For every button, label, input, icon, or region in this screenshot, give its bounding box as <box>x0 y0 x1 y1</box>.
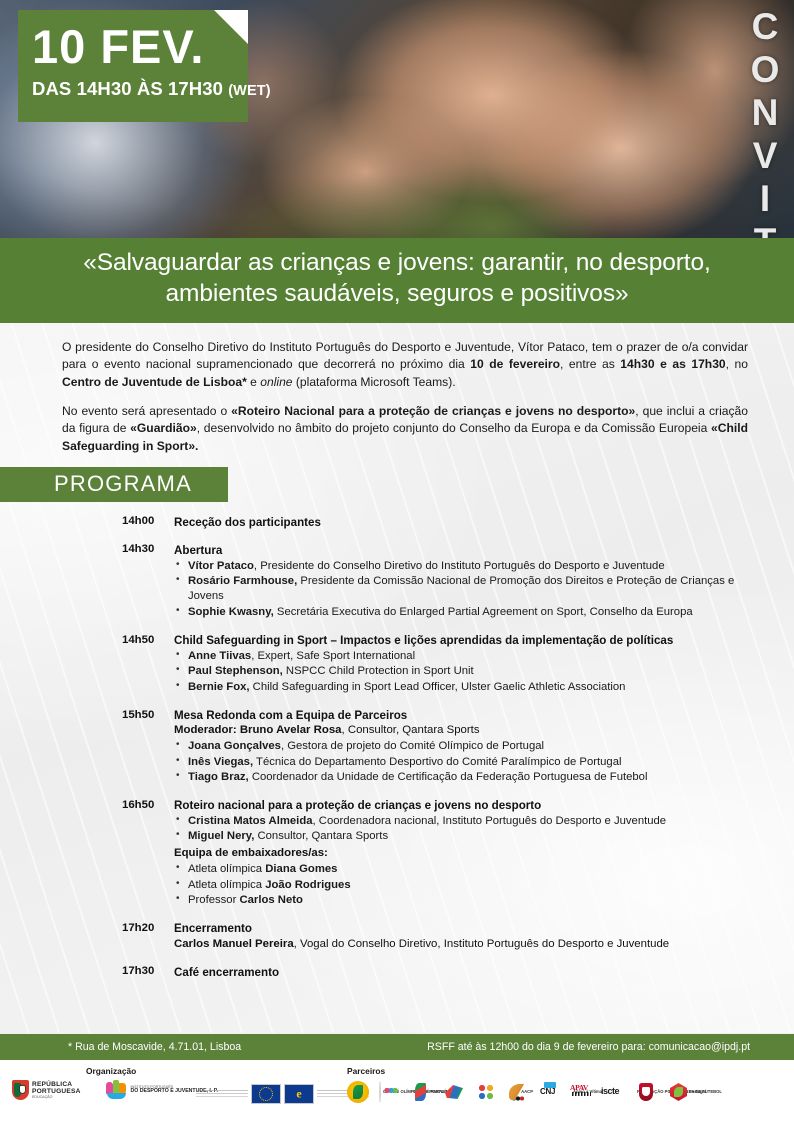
speaker-role: , Presidente do Conselho Diretivo do Ins… <box>254 560 665 572</box>
ambassador-role: Professor <box>188 894 239 906</box>
intro-text-block: O presidente do Conselho Diretivo do Ins… <box>0 323 794 456</box>
speaker-list: Anne Tiivas, Expert, Safe Sport Internat… <box>174 649 754 695</box>
speaker-role: NSPCC Child Protection in Sport Unit <box>283 665 474 677</box>
schedule-slot: 14h30AberturaVítor Pataco, Presidente do… <box>122 543 754 620</box>
iscte-logo <box>603 1080 629 1104</box>
programme-schedule: 14h00Receção dos participantes14h30Abert… <box>0 502 794 981</box>
slot-time: 14h50 <box>122 633 174 695</box>
schedule-slot: 14h00Receção dos participantes <box>122 515 754 530</box>
republica-line3: EDUCAÇÃO <box>32 1095 81 1099</box>
intro-p1-part-g: e <box>247 375 260 389</box>
federacao-portuguesa-futebol-logo: FEDERAÇÃO PORTUGUESA DE FUTEBOL <box>635 1080 661 1104</box>
intro-p2-roteiro: «Roteiro Nacional para a proteção de cri… <box>231 404 635 418</box>
intro-paragraph-1: O presidente do Conselho Diretivo do Ins… <box>62 339 748 392</box>
speaker-role: , Expert, Safe Sport International <box>251 650 415 662</box>
event-date: 10 FEV. <box>32 18 236 75</box>
speaker-name: Inês Viegas, <box>188 756 253 768</box>
slot-title: Child Safeguarding in Sport – Impactos e… <box>174 633 754 648</box>
speaker-item: Vítor Pataco, Presidente do Conselho Dir… <box>174 559 754 574</box>
rsvp-info: RSFF até às 12h00 do dia 9 de fevereiro … <box>427 1041 750 1053</box>
comite-paralimpico-portugal-logo: COMITÉ PARALÍMPICO <box>411 1080 437 1104</box>
slot-title: Receção dos participantes <box>174 515 754 530</box>
federacao-portuguesa-desporto-logo-icon <box>443 1081 465 1103</box>
invitation-poster: 10 FEV. DAS 14H30 ÀS 17H30 (WET) CONVITE… <box>0 0 794 1123</box>
venue-address: * Rua de Moscavide, 4.71.01, Lisboa <box>68 1041 241 1053</box>
speaker-item: Cristina Matos Almeida, Coordenadora nac… <box>174 814 754 829</box>
event-title-banner: «Salvaguardar as crianças e jovens: gara… <box>0 238 794 323</box>
cnj-logo-icon <box>539 1081 561 1103</box>
slot-time: 14h00 <box>122 515 174 530</box>
cnj-logo <box>539 1080 565 1104</box>
intro-p1-part-c: , entre as <box>560 357 620 371</box>
intro-p2-part-a: No evento será apresentado o <box>62 404 231 418</box>
convite-vertical-label: CONVITE <box>736 0 794 238</box>
speaker-item: Anne Tiivas, Expert, Safe Sport Internat… <box>174 649 754 664</box>
intro-p1-online: online <box>260 375 292 389</box>
speaker-name: Anne Tiivas <box>188 650 251 662</box>
speaker-item: Inês Viegas, Técnica do Departamento Des… <box>174 755 754 770</box>
ambassador-name: João Rodrigues <box>265 879 350 891</box>
ambassador-item: Professor Carlos Neto <box>174 893 754 908</box>
ambassador-name: Carlos Neto <box>239 894 302 906</box>
republica-line1: REPÚBLICA <box>32 1081 81 1088</box>
slot-time: 15h50 <box>122 708 174 785</box>
slot-body: Roteiro nacional para a proteção de cria… <box>174 798 754 908</box>
slot-time: 17h30 <box>122 965 174 980</box>
portugal-shield-icon <box>12 1080 29 1100</box>
republica-portuguesa-logo: REPÚBLICA PORTUGUESA EDUCAÇÃO <box>12 1080 81 1100</box>
ambassador-item: Atleta olímpica João Rodrigues <box>174 878 754 893</box>
speaker-name: Cristina Matos Almeida <box>188 815 313 827</box>
schedule-slot: 17h30Café encerramento <box>122 965 754 980</box>
ginastica-portugal-logo: Ginástica Portugal <box>667 1080 693 1104</box>
speaker-role: Coordenador da Unidade de Certificação d… <box>249 771 648 783</box>
intro-p2-part-e: , desenvolvido no âmbito do projeto conj… <box>197 421 711 435</box>
content-area: O presidente do Conselho Diretivo do Ins… <box>0 323 794 1033</box>
parceiros-label: Parceiros <box>347 1066 385 1076</box>
event-timezone: (WET) <box>228 83 270 99</box>
speaker-role: Child Safeguarding in Sport Lead Officer… <box>250 681 626 693</box>
corner-notch-decoration <box>214 10 248 44</box>
organizer-logos: REPÚBLICA PORTUGUESA EDUCAÇÃO INSTITUTO … <box>12 1080 218 1100</box>
speaker-role: , Gestora de projeto do Comité Olímpico … <box>281 740 544 752</box>
schedule-slot: 17h20EncerramentoCarlos Manuel Pereira, … <box>122 921 754 952</box>
slot-time: 14h30 <box>122 543 174 620</box>
intro-p1-part-e: , no <box>726 357 748 371</box>
speaker-name: Miguel Nery, <box>188 830 254 842</box>
schedule-slot: 14h50Child Safeguarding in Sport – Impac… <box>122 633 754 695</box>
eu-text-lines-placeholder <box>196 1087 248 1101</box>
logo-footer: Organização Parceiros REPÚBLICA PORTUGUE… <box>0 1060 794 1123</box>
schedule-slot: 15h50Mesa Redonda com a Equipa de Parcei… <box>122 708 754 785</box>
ambassadors-group-label: Equipa de embaixadores/as: <box>174 846 754 862</box>
aacp-logo: AACP <box>507 1080 533 1104</box>
republica-portuguesa-text: REPÚBLICA PORTUGUESA EDUCAÇÃO <box>32 1081 81 1100</box>
ambassadors-list: Atleta olímpica Diana GomesAtleta olímpi… <box>174 862 754 908</box>
slot-subtitle-name: Carlos Manuel Pereira <box>174 938 294 950</box>
speaker-name: Paul Stephenson, <box>188 665 283 677</box>
council-of-europe-flag-icon: e <box>284 1084 314 1104</box>
speaker-item: Paul Stephenson, NSPCC Child Protection … <box>174 664 754 679</box>
slot-title: Roteiro nacional para a proteção de cria… <box>174 798 754 813</box>
slot-body: Receção dos participantes <box>174 515 754 530</box>
confederacao-desporto-portugal-logo <box>475 1080 501 1104</box>
event-date-box: 10 FEV. DAS 14H30 ÀS 17H30 (WET) <box>18 10 248 122</box>
ambassador-role: Atleta olímpica <box>188 879 265 891</box>
speaker-name: Rosário Farmhouse, <box>188 575 297 587</box>
speaker-name: Vítor Pataco <box>188 560 254 572</box>
speaker-role: Técnica do Departamento Desportivo do Co… <box>253 756 621 768</box>
slot-title: Encerramento <box>174 921 754 936</box>
apav-logo: Apoio à Vítima <box>571 1080 597 1104</box>
speaker-item: Joana Gonçalves, Gestora de projeto do C… <box>174 739 754 754</box>
ipdj-badge-logo-icon <box>347 1081 369 1103</box>
speaker-item: Rosário Farmhouse, Presidente da Comissã… <box>174 574 754 605</box>
confederacao-desporto-portugal-logo-icon <box>475 1081 497 1103</box>
slot-subtitle-name: Moderador: Bruno Avelar Rosa <box>174 724 342 736</box>
european-union-flag-icon <box>251 1084 281 1104</box>
slot-subtitle: Moderador: Bruno Avelar Rosa, Consultor,… <box>174 723 754 738</box>
speaker-name: Bernie Fox, <box>188 681 250 693</box>
intro-p1-part-i: (plataforma Microsoft Teams). <box>293 375 456 389</box>
programa-heading: PROGRAMA <box>54 471 192 496</box>
speaker-item: Miguel Nery, Consultor, Qantara Sports <box>174 829 754 844</box>
speaker-list: Cristina Matos Almeida, Coordenadora nac… <box>174 814 754 845</box>
convite-text: CONVITE <box>749 6 780 238</box>
slot-body: AberturaVítor Pataco, Presidente do Cons… <box>174 543 754 620</box>
speaker-list: Joana Gonçalves, Gestora de projeto do C… <box>174 739 754 785</box>
speaker-name: Tiago Braz, <box>188 771 249 783</box>
intro-p2-guardiao: «Guardião» <box>130 421 197 435</box>
speaker-name: Joana Gonçalves <box>188 740 281 752</box>
slot-subtitle: Carlos Manuel Pereira, Vogal do Conselho… <box>174 937 754 952</box>
speaker-name: Sophie Kwasny, <box>188 606 274 618</box>
intro-p1-venue: Centro de Juventude de Lisboa* <box>62 375 247 389</box>
slot-subtitle-role: , Vogal do Conselho Diretivo, Instituto … <box>294 938 670 950</box>
intro-paragraph-2: No evento será apresentado o «Roteiro Na… <box>62 403 748 456</box>
speaker-item: Tiago Braz, Coordenador da Unidade de Ce… <box>174 770 754 785</box>
partner-logos: COMITÉ OLÍMPICO DE PORTUGALCOMITÉ PARALÍ… <box>347 1080 693 1104</box>
speaker-role: Secretária Executiva do Enlarged Partial… <box>274 606 693 618</box>
speaker-item: Sophie Kwasny, Secretária Executiva do E… <box>174 605 754 620</box>
ambassador-role: Atleta olímpica <box>188 863 265 875</box>
ipdj-mark-icon <box>106 1080 128 1100</box>
hero-photo-banner: 10 FEV. DAS 14H30 ÀS 17H30 (WET) CONVITE <box>0 0 794 238</box>
event-time-text: DAS 14H30 ÀS 17H30 <box>32 78 228 99</box>
ipdj-badge-logo <box>347 1080 373 1104</box>
speaker-list: Vítor Pataco, Presidente do Conselho Dir… <box>174 559 754 620</box>
speaker-item: Bernie Fox, Child Safeguarding in Sport … <box>174 680 754 695</box>
slot-title: Abertura <box>174 543 754 558</box>
slot-title: Café encerramento <box>174 965 754 980</box>
ambassador-name: Diana Gomes <box>265 863 337 875</box>
schedule-slot: 16h50Roteiro nacional para a proteção de… <box>122 798 754 908</box>
eu-coe-logos: e <box>196 1084 369 1104</box>
slot-body: Café encerramento <box>174 965 754 980</box>
page-title: «Salvaguardar as crianças e jovens: gara… <box>52 248 742 310</box>
comite-olimpico-portugal-logo-icon <box>379 1081 381 1103</box>
programa-section-header: PROGRAMA <box>0 467 228 502</box>
speaker-role: Consultor, Qantara Sports <box>254 830 388 842</box>
slot-body: Mesa Redonda com a Equipa de ParceirosMo… <box>174 708 754 785</box>
iscte-logo-icon <box>603 1081 625 1103</box>
ambassador-item: Atleta olímpica Diana Gomes <box>174 862 754 877</box>
footer-info-bar: * Rua de Moscavide, 4.71.01, Lisboa RSFF… <box>0 1034 794 1060</box>
slot-subtitle-role: , Consultor, Qantara Sports <box>342 724 480 736</box>
event-time-range: DAS 14H30 ÀS 17H30 (WET) <box>32 78 236 100</box>
intro-p1-time: 14h30 e as 17h30 <box>620 357 725 371</box>
slot-body: EncerramentoCarlos Manuel Pereira, Vogal… <box>174 921 754 952</box>
slot-time: 16h50 <box>122 798 174 908</box>
federacao-portuguesa-desporto-logo <box>443 1080 469 1104</box>
slot-body: Child Safeguarding in Sport – Impactos e… <box>174 633 754 695</box>
intro-p1-date: 10 de fevereiro <box>470 357 560 371</box>
speaker-role: , Coordenadora nacional, Instituto Portu… <box>313 815 667 827</box>
aacp-logo-icon <box>507 1081 519 1103</box>
slot-title: Mesa Redonda com a Equipa de Parceiros <box>174 708 754 723</box>
organizacao-label: Organização <box>86 1066 136 1076</box>
slot-time: 17h20 <box>122 921 174 952</box>
comite-olimpico-portugal-logo: COMITÉ OLÍMPICO DE PORTUGAL <box>379 1080 405 1104</box>
